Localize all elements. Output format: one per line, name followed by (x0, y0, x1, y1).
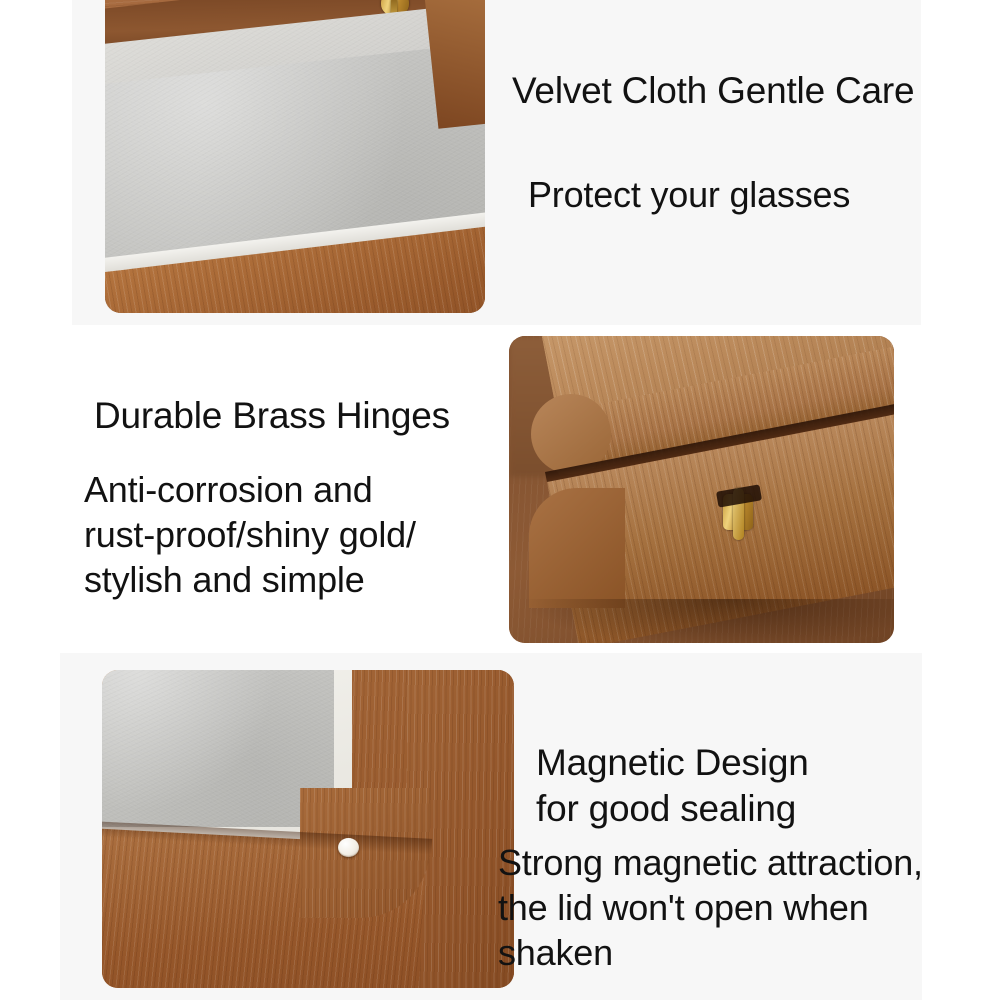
feature-body-hinge: Anti-corrosion and rust-proof/shiny gold… (84, 467, 416, 602)
photo-magnet-corner (102, 670, 514, 988)
feature-body-velvet: Protect your glasses (528, 172, 850, 217)
feature-headline-velvet: Velvet Cloth Gentle Care (512, 68, 914, 114)
base-corner-round (529, 488, 625, 608)
photo-velvet-lining (105, 0, 485, 313)
contact-shadow (519, 599, 894, 643)
feature-headline-hinge: Durable Brass Hinges (94, 393, 450, 439)
feature-headline-magnet: Magnetic Design for good sealing (536, 740, 809, 832)
feature-body-magnet: Strong magnetic attraction, the lid won'… (498, 840, 923, 975)
magnet-dot-icon (338, 838, 359, 857)
infographic-canvas: Velvet Cloth Gentle Care Protect your gl… (0, 0, 1000, 1000)
photo-brass-hinge (509, 336, 894, 643)
